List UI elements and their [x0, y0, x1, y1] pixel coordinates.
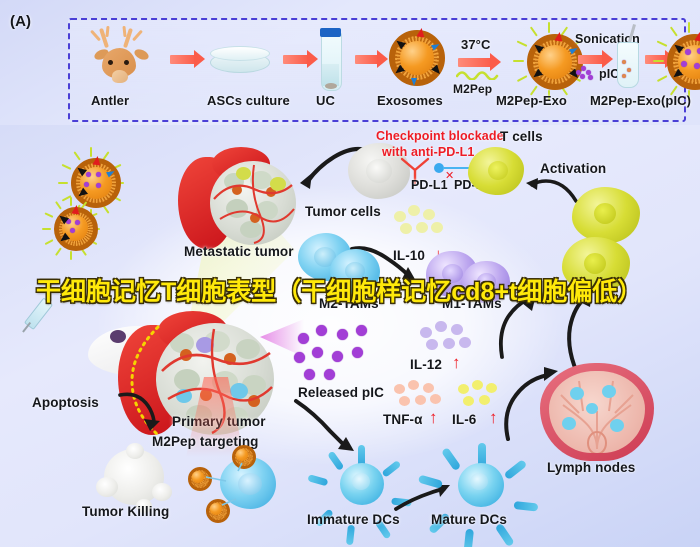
panel-a-label-ascs: ASCs culture [207, 94, 290, 107]
sonication-tube-illustration [613, 24, 643, 90]
label-il12: IL-12 [410, 358, 442, 372]
panel-a-label-m2pep-exo: M2Pep-Exo [496, 94, 567, 107]
exosome-illustration [389, 30, 445, 86]
label-mature-dcs: Mature DCs [431, 513, 507, 527]
panel-a-label-antler: Antler [91, 94, 129, 107]
petri-dish-illustration [210, 42, 272, 72]
lymph-node-illustration [540, 363, 660, 467]
nanoparticle-2 [44, 197, 98, 251]
label-metastatic-tumor: Metastatic tumor [184, 245, 294, 259]
panel-a-label-uc: UC [316, 94, 335, 107]
label-pdl1: PD-L1 [411, 179, 448, 192]
pd1-receptor-stalk [443, 167, 469, 169]
panel-b: Metastatic tumor Tumor cells Checkpoint … [0, 125, 700, 547]
m2pep-exosome-illustration [515, 22, 583, 90]
panel-a-label-temperature: 37°C [461, 38, 490, 51]
il10-cytokine-cluster [394, 205, 450, 239]
m2pep-exosome-pic-illustration [655, 22, 700, 90]
activated-t-cell-2 [562, 237, 632, 295]
tnfa-cytokine-cluster [394, 380, 450, 410]
label-checkpoint-line1: Checkpoint blockade [376, 130, 504, 143]
pic-dot-cluster-a [576, 66, 596, 80]
arrow-m1-to-tcells [496, 295, 548, 361]
m2-tam-cell-2 [330, 249, 382, 295]
arrow-apoptosis [116, 387, 168, 435]
ultracentrifuge-tube-illustration [320, 26, 344, 96]
t-cell-checkpoint [468, 147, 526, 197]
panel-a-label-m2pep-exo-pic: M2Pep-Exo(pIC) [590, 94, 691, 107]
label-tumor-cells: Tumor cells [305, 205, 381, 219]
arrow-culture-to-uc [283, 55, 309, 64]
targeting-connector-lines [186, 443, 296, 521]
lymph-node-structure [549, 371, 645, 453]
il12-cytokine-cluster [420, 321, 476, 355]
arrow-antler-to-culture [170, 55, 196, 64]
label-lymph-nodes: Lymph nodes [547, 461, 635, 475]
metastatic-tumor-illustration [178, 147, 308, 257]
antler-deer-illustration [88, 26, 164, 88]
label-m1-tams: M1-TAMs [442, 297, 502, 311]
label-tnfa: TNF-α [383, 413, 423, 427]
tumor-vasculature [208, 159, 300, 249]
panel-a-tag: (A) [10, 14, 31, 29]
arrow-exosome-to-m2pepexo [458, 58, 492, 67]
m2pep-targeting-illustration [186, 443, 296, 521]
label-tumor-killing: Tumor Killing [82, 505, 169, 519]
label-t-cells: T cells [500, 130, 543, 144]
label-apoptosis: Apoptosis [32, 396, 99, 410]
panel-a-label-exosomes: Exosomes [377, 94, 443, 107]
label-il6: IL-6 [452, 413, 476, 427]
label-m2-tams: M2-TAMs [319, 297, 379, 311]
released-pic-cluster [294, 325, 374, 383]
m2pep-peptide-squiggle [456, 68, 502, 80]
arrow-sonication [578, 55, 604, 64]
tnfa-up-arrow: ↑ [429, 409, 438, 426]
panel-a-label-m2pep: M2Pep [453, 83, 492, 95]
arrow-uc-to-exosomes [355, 55, 379, 64]
il12-up-arrow: ↑ [452, 354, 461, 371]
label-immature-dcs: Immature DCs [307, 513, 400, 527]
figure-canvas: (A) Antler ASCs culture UC [0, 0, 700, 547]
